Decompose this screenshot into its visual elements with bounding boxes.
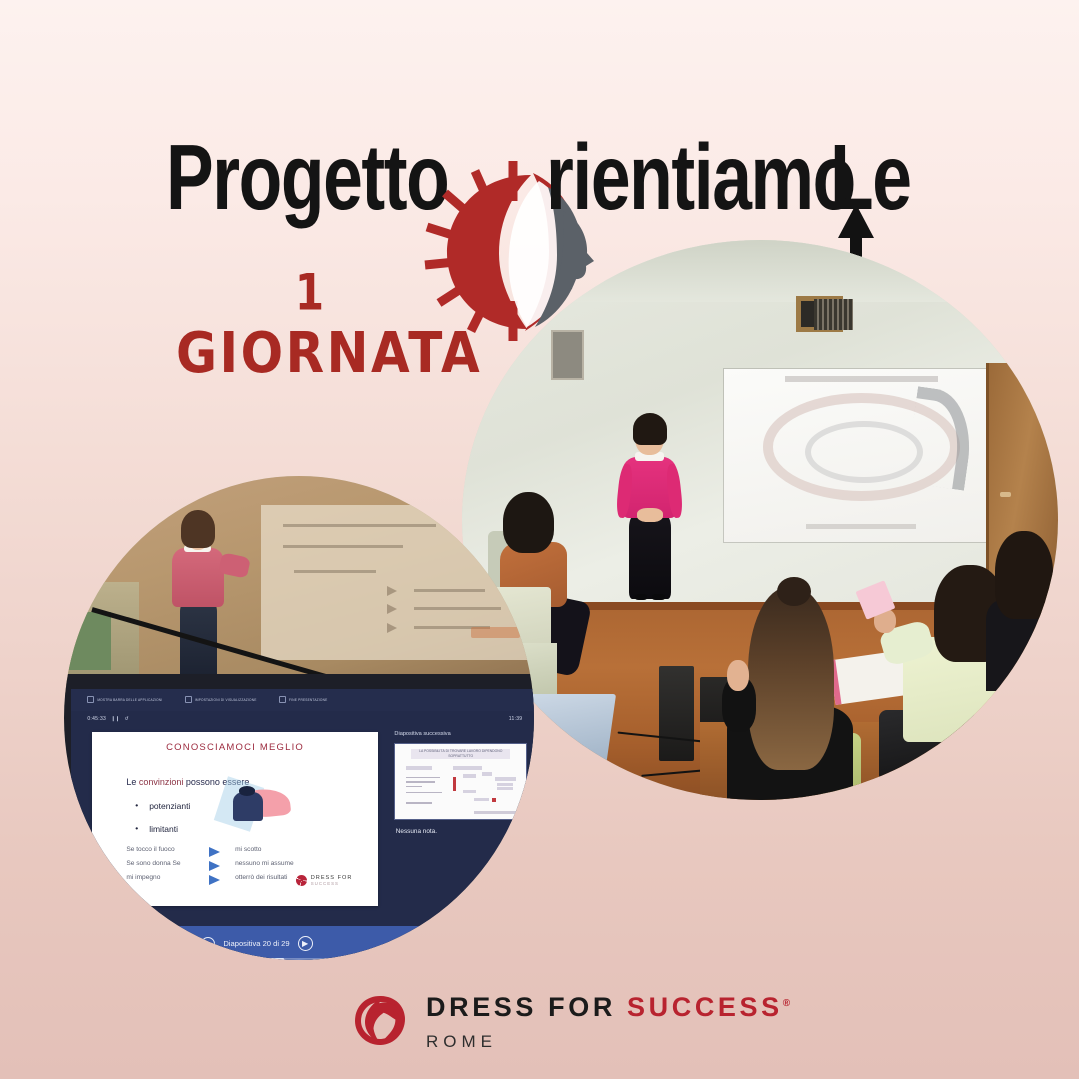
condition-then-2: nessuno mi assume — [235, 860, 294, 867]
current-slide-preview[interactable]: CONOSCIAMOCI MEGLIO Le convinzioni posso… — [92, 732, 378, 906]
student-front — [724, 587, 855, 800]
toolbar-item-end-show[interactable]: FINE PRESENTAZIONE — [279, 696, 327, 703]
slide-navigation-bar: ‹ Diapositiva 20 di 29 ▶ — [71, 926, 534, 960]
toolbar-label-display-settings: IMPOSTAZIONI DI VISUALIZZAZIONE — [195, 698, 257, 702]
pen-tool-icon[interactable] — [99, 911, 111, 921]
slide-bullet-1: potenzianti — [149, 801, 190, 811]
registered-mark: ® — [783, 998, 794, 1009]
pause-icon[interactable]: ❙❙ — [111, 716, 119, 722]
presenter-status-bar: 0:45:33 ❙❙ ↺ 11:39 — [71, 711, 534, 728]
slide-lead-prefix: Le — [126, 777, 139, 787]
slide-dress-for-success-logo: DRESS FOR SUCCESS — [296, 875, 353, 886]
classroom-photo — [462, 240, 1058, 800]
condition-if-1: Se tocco il fuoco — [126, 846, 174, 853]
subtitle-block: 1 GIORNATA — [176, 268, 444, 376]
more-options-icon[interactable]: ••• — [120, 910, 133, 923]
notes-scrollbar[interactable] — [524, 831, 529, 925]
slide-lead-highlight: convinzioni — [139, 777, 184, 787]
ink-tools-row[interactable]: ••• — [99, 910, 133, 923]
green-board — [69, 612, 111, 670]
presenter-view-screen: MOSTRA BARRA DELLE APPLICAZIONI IMPOSTAZ… — [71, 689, 534, 960]
condition-arrow-2 — [209, 861, 220, 871]
slide-title: CONOSCIAMOCI MEGLIO — [92, 742, 378, 753]
toolbar-item-display-settings[interactable]: IMPOSTAZIONI DI VISUALIZZAZIONE — [185, 696, 257, 703]
laptop-presenter-view-photo: MOSTRA BARRA DELLE APPLICAZIONI IMPOSTAZ… — [64, 476, 534, 960]
footer-brand-dark: DRESS FOR — [426, 992, 616, 1022]
condition-arrow-1 — [209, 847, 220, 857]
title-word-le: Le — [830, 132, 911, 225]
next-slide-label: Diapositiva successiva — [394, 731, 450, 737]
elapsed-timer: 0:45:33 — [87, 716, 106, 722]
wall-clock: 11:39 — [509, 716, 523, 722]
classroom-ceiling — [462, 240, 1058, 302]
wall-plaque-icon — [551, 330, 584, 380]
superhero-illustration — [226, 786, 289, 824]
notes-text: Nessuna nota. — [396, 828, 437, 835]
wall-projection — [261, 505, 534, 660]
slide-bullet-2: limitanti — [149, 824, 178, 834]
taskbar-icon — [87, 696, 94, 703]
condition-arrow-3 — [209, 875, 220, 885]
poster-title: Progetto rientiamo — [0, 118, 1079, 218]
title-word-rientiamo: rientiamo — [546, 132, 855, 225]
dress-for-success-footer-logo: DRESS FOR SUCCESS® ROME — [352, 992, 794, 1050]
condition-then-1: mi scotto — [235, 846, 261, 853]
poster-canvas: Progetto rientiamo — [0, 0, 1079, 1079]
slide-progress-bar[interactable] — [201, 958, 359, 960]
end-show-icon — [279, 696, 286, 703]
wall-vent-grille — [814, 299, 853, 329]
slide-counter: Diapositiva 20 di 29 — [223, 939, 289, 948]
title-word-progetto: Progetto — [166, 132, 448, 225]
student-far-right — [986, 531, 1058, 688]
previous-slide-icon[interactable]: ‹ — [201, 937, 215, 951]
footer-city: ROME — [426, 1033, 794, 1050]
display-settings-icon — [185, 696, 192, 703]
condition-if-2: Se sono donna Se — [126, 860, 180, 867]
next-slide-icon[interactable]: ▶ — [298, 936, 313, 951]
pc-tower-1 — [659, 666, 695, 761]
presenter-person-2 — [167, 510, 228, 684]
condition-if-3: mi impegno — [126, 874, 160, 881]
thumb-title: LA POSSIBILITÀ DI TROVARE LAVORO DIPENDO… — [411, 749, 510, 759]
subtitle-word: GIORNATA — [176, 325, 444, 382]
footer-brand-red: SUCCESS — [627, 992, 783, 1022]
toolbar-item-taskbar[interactable]: MOSTRA BARRA DELLE APPLICAZIONI — [87, 696, 162, 703]
slide-logo-line2: SUCCESS — [311, 882, 353, 887]
subtitle-number: 1 — [176, 268, 444, 319]
condition-then-3: otterrò dei risultati — [235, 874, 287, 881]
rosette-icon — [296, 875, 307, 886]
toolbar-label-end-show: FINE PRESENTAZIONE — [289, 698, 327, 702]
presenter-person — [617, 419, 683, 621]
reset-icon[interactable]: ↺ — [125, 716, 129, 722]
projection-screen — [724, 369, 998, 543]
toolbar-label-taskbar: MOSTRA BARRA DELLE APPLICAZIONI — [97, 698, 162, 702]
next-slide-thumbnail[interactable]: LA POSSIBILITÀ DI TROVARE LAVORO DIPENDO… — [394, 743, 527, 820]
presenter-toolbar[interactable]: MOSTRA BARRA DELLE APPLICAZIONI IMPOSTAZ… — [71, 689, 534, 711]
dress-for-success-rosette-icon — [352, 993, 408, 1049]
